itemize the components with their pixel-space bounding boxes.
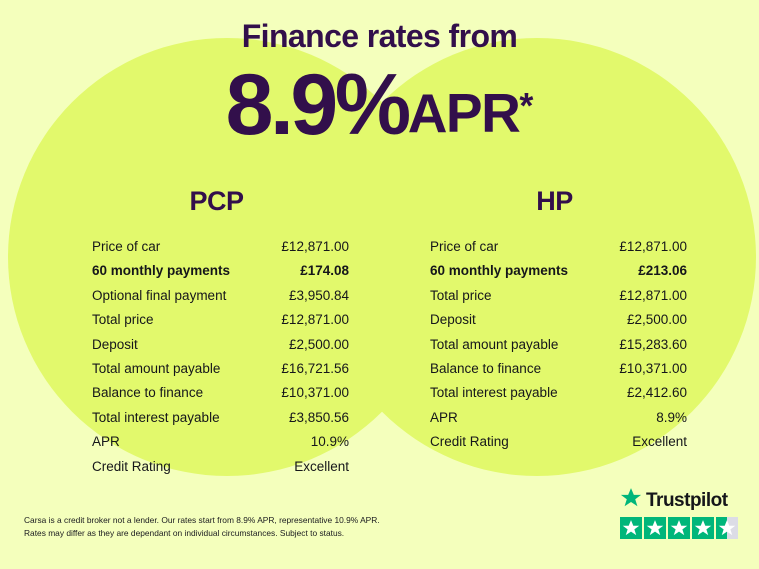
table-row: 60 monthly payments£213.06 bbox=[416, 259, 693, 283]
row-label: APR bbox=[430, 406, 458, 430]
finance-rates-graphic: Finance rates from 8.9%APR* PCP Price of… bbox=[0, 0, 759, 569]
row-label: Total price bbox=[430, 284, 492, 308]
table-row: Credit RatingExcellent bbox=[78, 455, 355, 479]
asterisk-mark: * bbox=[519, 85, 533, 126]
table-row: Total interest payable£2,412.60 bbox=[416, 381, 693, 405]
page-title: Finance rates from bbox=[0, 20, 759, 52]
row-label: 60 monthly payments bbox=[92, 259, 230, 283]
rate-suffix: APR bbox=[408, 82, 520, 144]
disclaimer-line-1: Carsa is a credit broker not a lender. O… bbox=[24, 514, 444, 527]
star-icon bbox=[620, 517, 642, 539]
row-label: Balance to finance bbox=[92, 381, 203, 405]
row-value: £213.06 bbox=[638, 259, 687, 283]
star-half-icon bbox=[716, 517, 738, 539]
row-value: Excellent bbox=[294, 455, 349, 479]
hp-rows: Price of car£12,871.0060 monthly payment… bbox=[416, 235, 693, 455]
row-value: £15,283.60 bbox=[619, 333, 687, 357]
row-value: £174.08 bbox=[300, 259, 349, 283]
table-row: Total interest payable£3,850.56 bbox=[78, 406, 355, 430]
table-row: Deposit£2,500.00 bbox=[416, 308, 693, 332]
row-label: Deposit bbox=[92, 333, 138, 357]
table-row: Balance to finance£10,371.00 bbox=[416, 357, 693, 381]
hp-column: HP Price of car£12,871.0060 monthly paym… bbox=[416, 188, 693, 455]
row-label: Price of car bbox=[430, 235, 498, 259]
row-value: £12,871.00 bbox=[619, 235, 687, 259]
row-label: Total amount payable bbox=[92, 357, 220, 381]
table-row: Total price£12,871.00 bbox=[78, 308, 355, 332]
table-row: APR8.9% bbox=[416, 406, 693, 430]
rate-number: 8.9% bbox=[226, 57, 408, 153]
trustpilot-logo: Trustpilot bbox=[620, 488, 745, 512]
table-row: APR10.9% bbox=[78, 430, 355, 454]
star-icon bbox=[692, 517, 714, 539]
star-icon bbox=[644, 517, 666, 539]
trustpilot-rating: Trustpilot bbox=[620, 488, 745, 539]
row-value: £12,871.00 bbox=[281, 235, 349, 259]
table-row: Deposit£2,500.00 bbox=[78, 333, 355, 357]
rate-hero: 8.9%APR* bbox=[0, 62, 759, 148]
table-row: Credit RatingExcellent bbox=[416, 430, 693, 454]
pcp-rows: Price of car£12,871.0060 monthly payment… bbox=[78, 235, 355, 479]
row-label: Credit Rating bbox=[92, 455, 171, 479]
row-value: 10.9% bbox=[311, 430, 349, 454]
disclaimer-text: Carsa is a credit broker not a lender. O… bbox=[24, 514, 444, 539]
row-value: £2,500.00 bbox=[627, 308, 687, 332]
row-label: Total price bbox=[92, 308, 154, 332]
row-label: APR bbox=[92, 430, 120, 454]
row-label: Price of car bbox=[92, 235, 160, 259]
row-label: Deposit bbox=[430, 308, 476, 332]
table-row: Price of car£12,871.00 bbox=[78, 235, 355, 259]
row-value: 8.9% bbox=[656, 406, 687, 430]
table-row: Optional final payment£3,950.84 bbox=[78, 284, 355, 308]
table-row: Total amount payable£16,721.56 bbox=[78, 357, 355, 381]
row-label: Total interest payable bbox=[92, 406, 220, 430]
row-value: £16,721.56 bbox=[281, 357, 349, 381]
table-row: Total price£12,871.00 bbox=[416, 284, 693, 308]
row-label: Balance to finance bbox=[430, 357, 541, 381]
row-label: Credit Rating bbox=[430, 430, 509, 454]
row-value: £12,871.00 bbox=[281, 308, 349, 332]
trustpilot-stars bbox=[620, 517, 745, 539]
row-value: £3,950.84 bbox=[289, 284, 349, 308]
row-label: Optional final payment bbox=[92, 284, 226, 308]
star-icon bbox=[620, 487, 642, 514]
pcp-column-title: PCP bbox=[78, 188, 355, 215]
row-value: £2,412.60 bbox=[627, 381, 687, 405]
hp-column-title: HP bbox=[416, 188, 693, 215]
row-label: Total interest payable bbox=[430, 381, 558, 405]
table-row: Price of car£12,871.00 bbox=[416, 235, 693, 259]
row-value: Excellent bbox=[632, 430, 687, 454]
trustpilot-wordmark: Trustpilot bbox=[646, 491, 728, 510]
table-row: Total amount payable£15,283.60 bbox=[416, 333, 693, 357]
table-row: Balance to finance£10,371.00 bbox=[78, 381, 355, 405]
row-value: £3,850.56 bbox=[289, 406, 349, 430]
table-row: 60 monthly payments£174.08 bbox=[78, 259, 355, 283]
row-label: Total amount payable bbox=[430, 333, 558, 357]
star-icon bbox=[668, 517, 690, 539]
row-label: 60 monthly payments bbox=[430, 259, 568, 283]
row-value: £12,871.00 bbox=[619, 284, 687, 308]
row-value: £10,371.00 bbox=[619, 357, 687, 381]
disclaimer-line-2: Rates may differ as they are dependant o… bbox=[24, 527, 444, 540]
row-value: £2,500.00 bbox=[289, 333, 349, 357]
pcp-column: PCP Price of car£12,871.0060 monthly pay… bbox=[78, 188, 355, 479]
row-value: £10,371.00 bbox=[281, 381, 349, 405]
